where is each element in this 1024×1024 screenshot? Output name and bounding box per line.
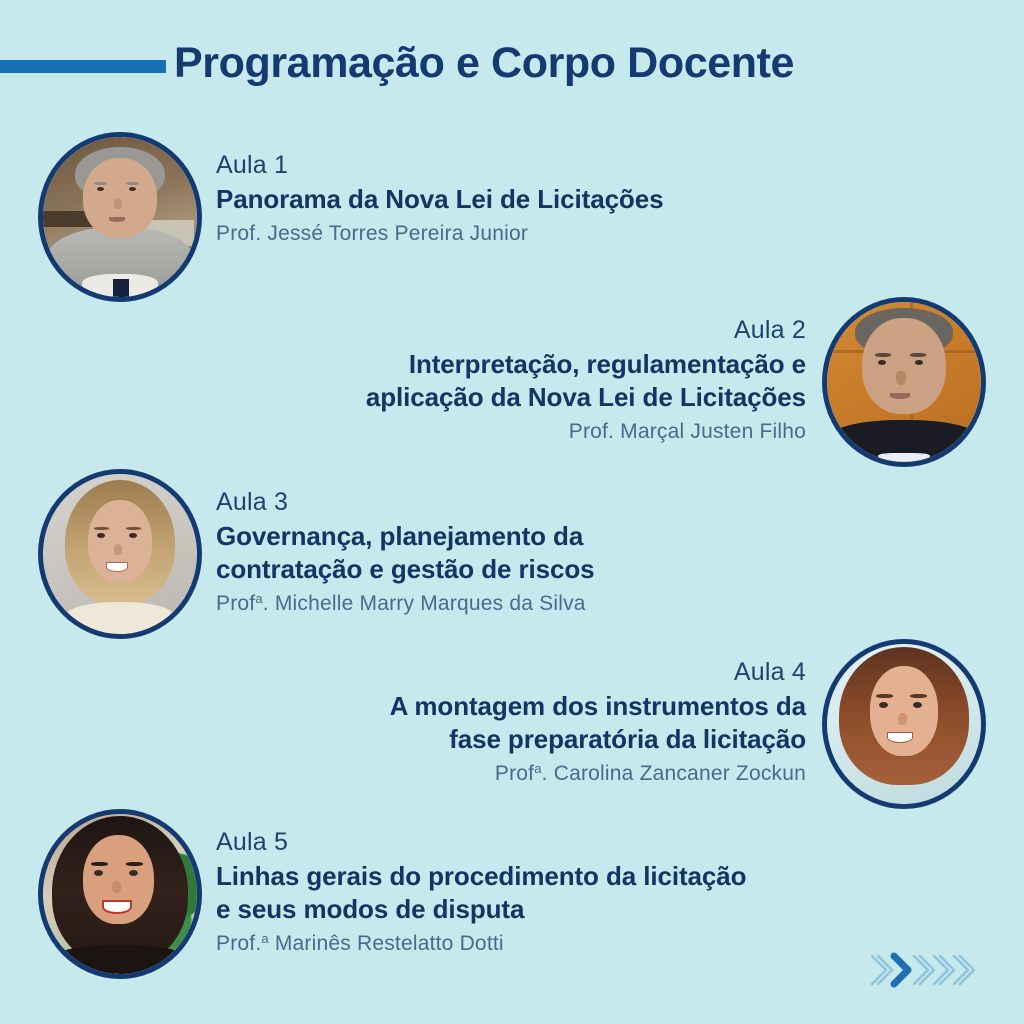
lesson-title-line-2: aplicação da Nova Lei de Licitações <box>120 381 806 414</box>
lesson-professor-2: Prof. Marçal Justen Filho <box>120 416 806 447</box>
lesson-title-line-2: fase preparatória da licitação <box>120 723 806 756</box>
lesson-label-4: Aula 4 <box>120 655 806 689</box>
avatar-marines-restelatto-dotti <box>38 809 202 979</box>
lesson-professor-4: Profa. Carolina Zancaner Zockun <box>120 758 806 789</box>
professor-prefix: Prof. <box>569 420 620 443</box>
lesson-professor-5: Prof.a Marinês Restelatto Dotti <box>216 928 916 959</box>
lesson-text-5: Aula 5 Linhas gerais do procedimento da … <box>216 825 916 959</box>
lesson-title-4: A montagem dos instrumentos da fase prep… <box>120 690 806 756</box>
lesson-text-4: Aula 4 A montagem dos instrumentos da fa… <box>120 655 806 789</box>
professor-suffix: . <box>542 762 554 785</box>
lesson-professor-3: Profa. Michelle Marry Marques da Silva <box>216 588 916 619</box>
professor-suffix: . <box>263 592 275 615</box>
professor-name: Michelle Marry Marques da Silva <box>275 592 586 615</box>
professor-name: Marinês Restelatto Dotti <box>275 932 504 955</box>
professor-ordinal: a <box>255 591 262 606</box>
chevron-decoration <box>868 946 978 994</box>
lesson-title-1: Panorama da Nova Lei de Licitações <box>216 183 916 216</box>
lesson-label-1: Aula 1 <box>216 148 916 182</box>
page-title: Programação e Corpo Docente <box>174 32 794 94</box>
page-header: Programação e Corpo Docente <box>0 32 1024 98</box>
lesson-row-2: Aula 2 Interpretação, regulamentação e a… <box>0 295 1024 475</box>
professor-name: Marçal Justen Filho <box>620 420 806 443</box>
professor-prefix: Prof. <box>216 222 267 245</box>
header-accent-bar <box>0 60 166 73</box>
lesson-title-line-2: contratação e gestão de riscos <box>216 553 916 586</box>
lesson-title-line-1: Governança, planejamento da <box>216 520 916 553</box>
lesson-label-2: Aula 2 <box>120 313 806 347</box>
lesson-row-4: Aula 4 A montagem dos instrumentos da fa… <box>0 637 1024 817</box>
professor-ordinal: a <box>534 761 541 776</box>
lesson-title-3: Governança, planejamento da contratação … <box>216 520 916 586</box>
professor-prefix: Prof <box>495 762 534 785</box>
lesson-text-1: Aula 1 Panorama da Nova Lei de Licitaçõe… <box>216 148 916 249</box>
lesson-title-line-2: e seus modos de disputa <box>216 893 916 926</box>
lesson-title-5: Linhas gerais do procedimento da licitaç… <box>216 860 916 926</box>
lesson-label-5: Aula 5 <box>216 825 916 859</box>
lesson-row-3: Aula 3 Governança, planejamento da contr… <box>0 467 1024 647</box>
avatar-michelle-marry-marques-da-silva <box>38 469 202 639</box>
avatar-marcal-justen-filho <box>822 297 986 467</box>
chevron-right-icon-2-solid <box>894 956 908 984</box>
lesson-title-line-1: Interpretação, regulamentação e <box>120 348 806 381</box>
avatar-jesse-torres-pereira-junior <box>38 132 202 302</box>
lesson-professor-1: Prof. Jessé Torres Pereira Junior <box>216 218 916 249</box>
lesson-title-line-1: A montagem dos instrumentos da <box>120 690 806 723</box>
avatar-carolina-zancaner-zockun <box>822 639 986 809</box>
professor-prefix: Prof <box>216 592 255 615</box>
professor-name: Carolina Zancaner Zockun <box>554 762 806 785</box>
chevron-right-icon-group <box>868 946 978 994</box>
lesson-title-2: Interpretação, regulamentação e aplicaçã… <box>120 348 806 414</box>
professor-ordinal: a <box>261 931 268 946</box>
lesson-text-2: Aula 2 Interpretação, regulamentação e a… <box>120 313 806 447</box>
professor-name: Jessé Torres Pereira Junior <box>267 222 528 245</box>
lesson-text-3: Aula 3 Governança, planejamento da contr… <box>216 485 916 619</box>
lesson-title-line-1: Linhas gerais do procedimento da licitaç… <box>216 860 916 893</box>
lesson-row-1: Aula 1 Panorama da Nova Lei de Licitaçõe… <box>0 130 1024 310</box>
lesson-label-3: Aula 3 <box>216 485 916 519</box>
professor-prefix: Prof. <box>216 932 261 955</box>
